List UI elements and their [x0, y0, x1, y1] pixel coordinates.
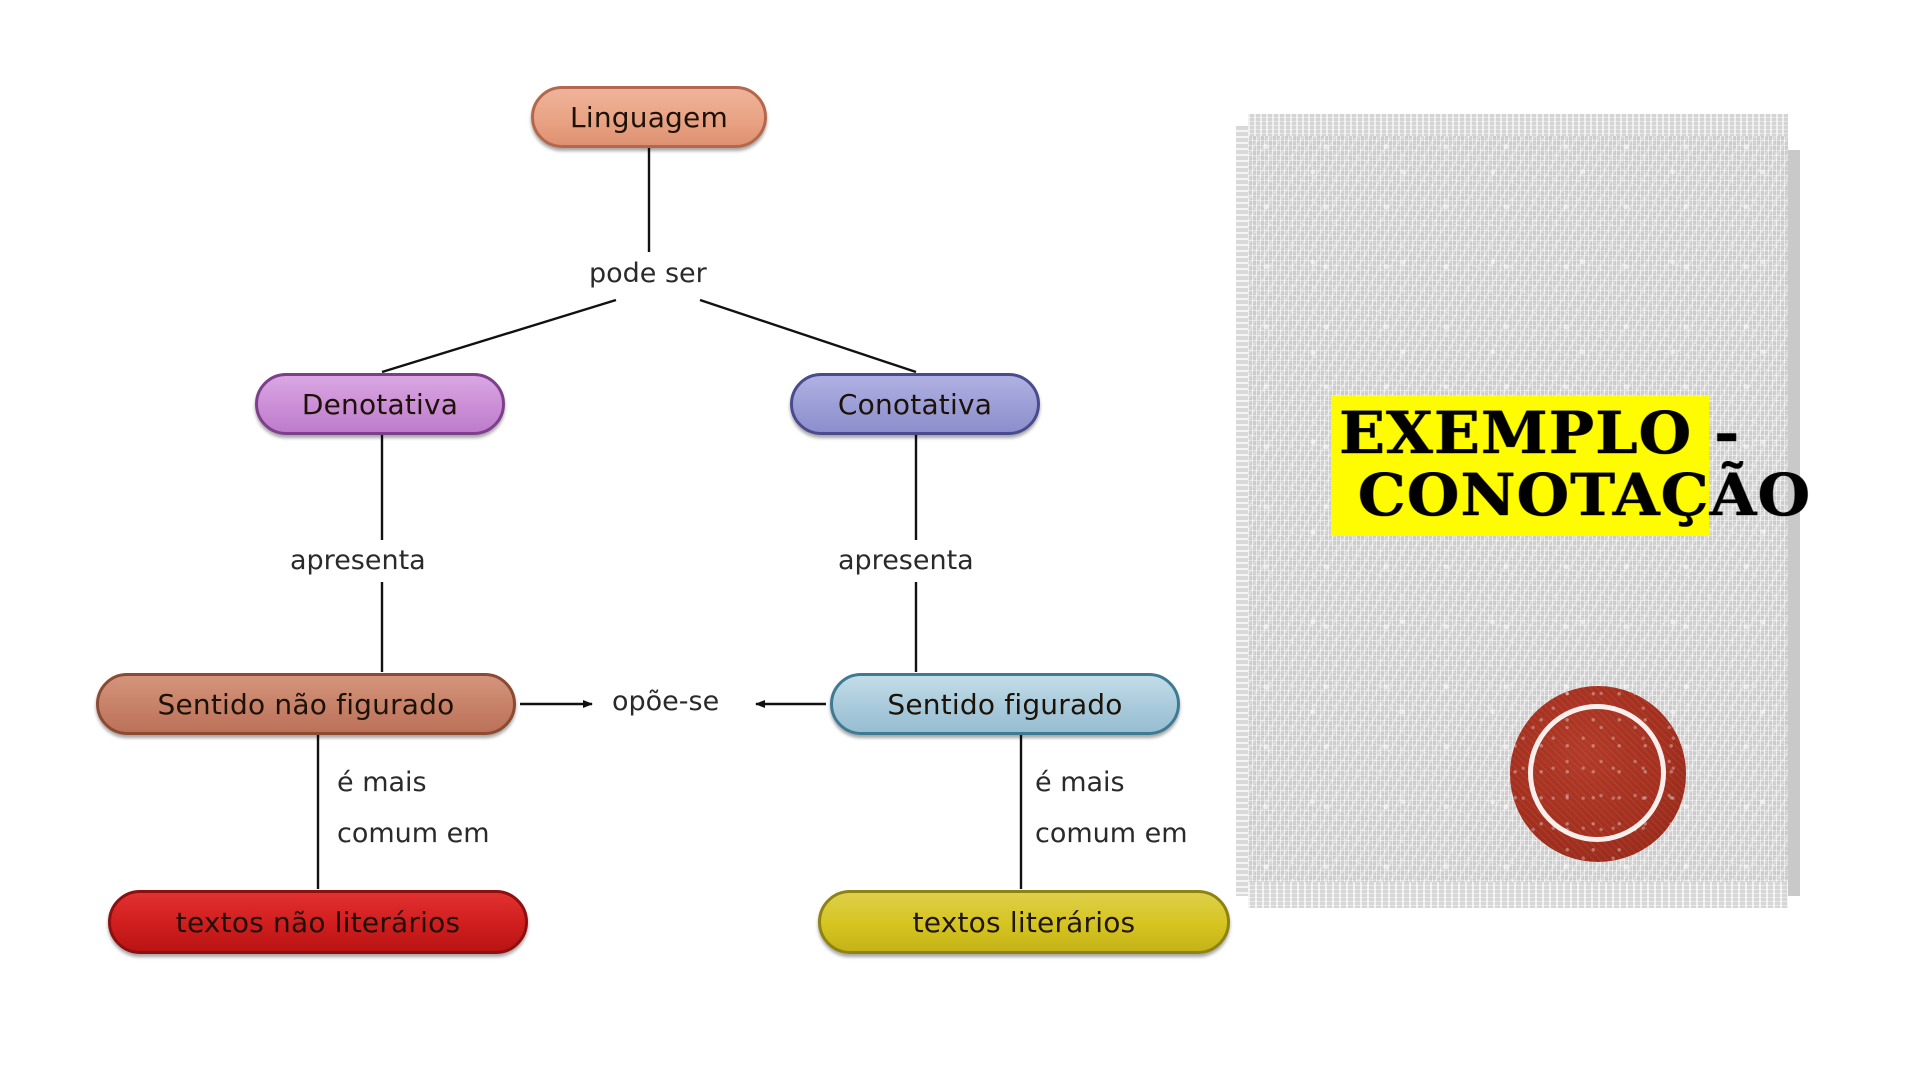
red-circle-seal-icon	[1510, 686, 1686, 862]
heading-line-2: CONOTAÇÃO	[1339, 464, 1715, 526]
paper-top-strip	[1248, 114, 1788, 136]
seal-texture	[1510, 686, 1686, 862]
node-textos-literarios: textos literários	[818, 890, 1230, 954]
node-denotativa: Denotativa	[255, 373, 505, 435]
edge-label-comum-em-right: comum em	[1035, 818, 1188, 849]
edge-label-opoe-se: opõe-se	[612, 686, 719, 717]
edge-label-apresenta-right: apresenta	[838, 545, 974, 576]
concept-map: Linguagem Denotativa Conotativa Sentido …	[0, 0, 1260, 1080]
node-textos-nao-literarios: textos não literários	[108, 890, 528, 954]
node-conotativa: Conotativa	[790, 373, 1040, 435]
edge-label-comum-em-left: comum em	[337, 818, 490, 849]
node-sentido-figurado: Sentido figurado	[830, 673, 1180, 735]
node-sentido-nao-figurado: Sentido não figurado	[96, 673, 516, 735]
paper-bottom-strip	[1248, 882, 1788, 908]
edge-label-e-mais-left: é mais	[337, 767, 427, 798]
edge-label-apresenta-left: apresenta	[290, 545, 426, 576]
node-linguagem: Linguagem	[531, 86, 767, 148]
edge-label-e-mais-right: é mais	[1035, 767, 1125, 798]
edge-label-pode-ser: pode ser	[589, 258, 707, 289]
title-panel: EXEMPLO - CONOTAÇÃO	[1248, 136, 1800, 896]
heading-line-1: EXEMPLO -	[1339, 402, 1715, 464]
exemplo-conotacao-heading: EXEMPLO - CONOTAÇÃO	[1331, 396, 1709, 536]
